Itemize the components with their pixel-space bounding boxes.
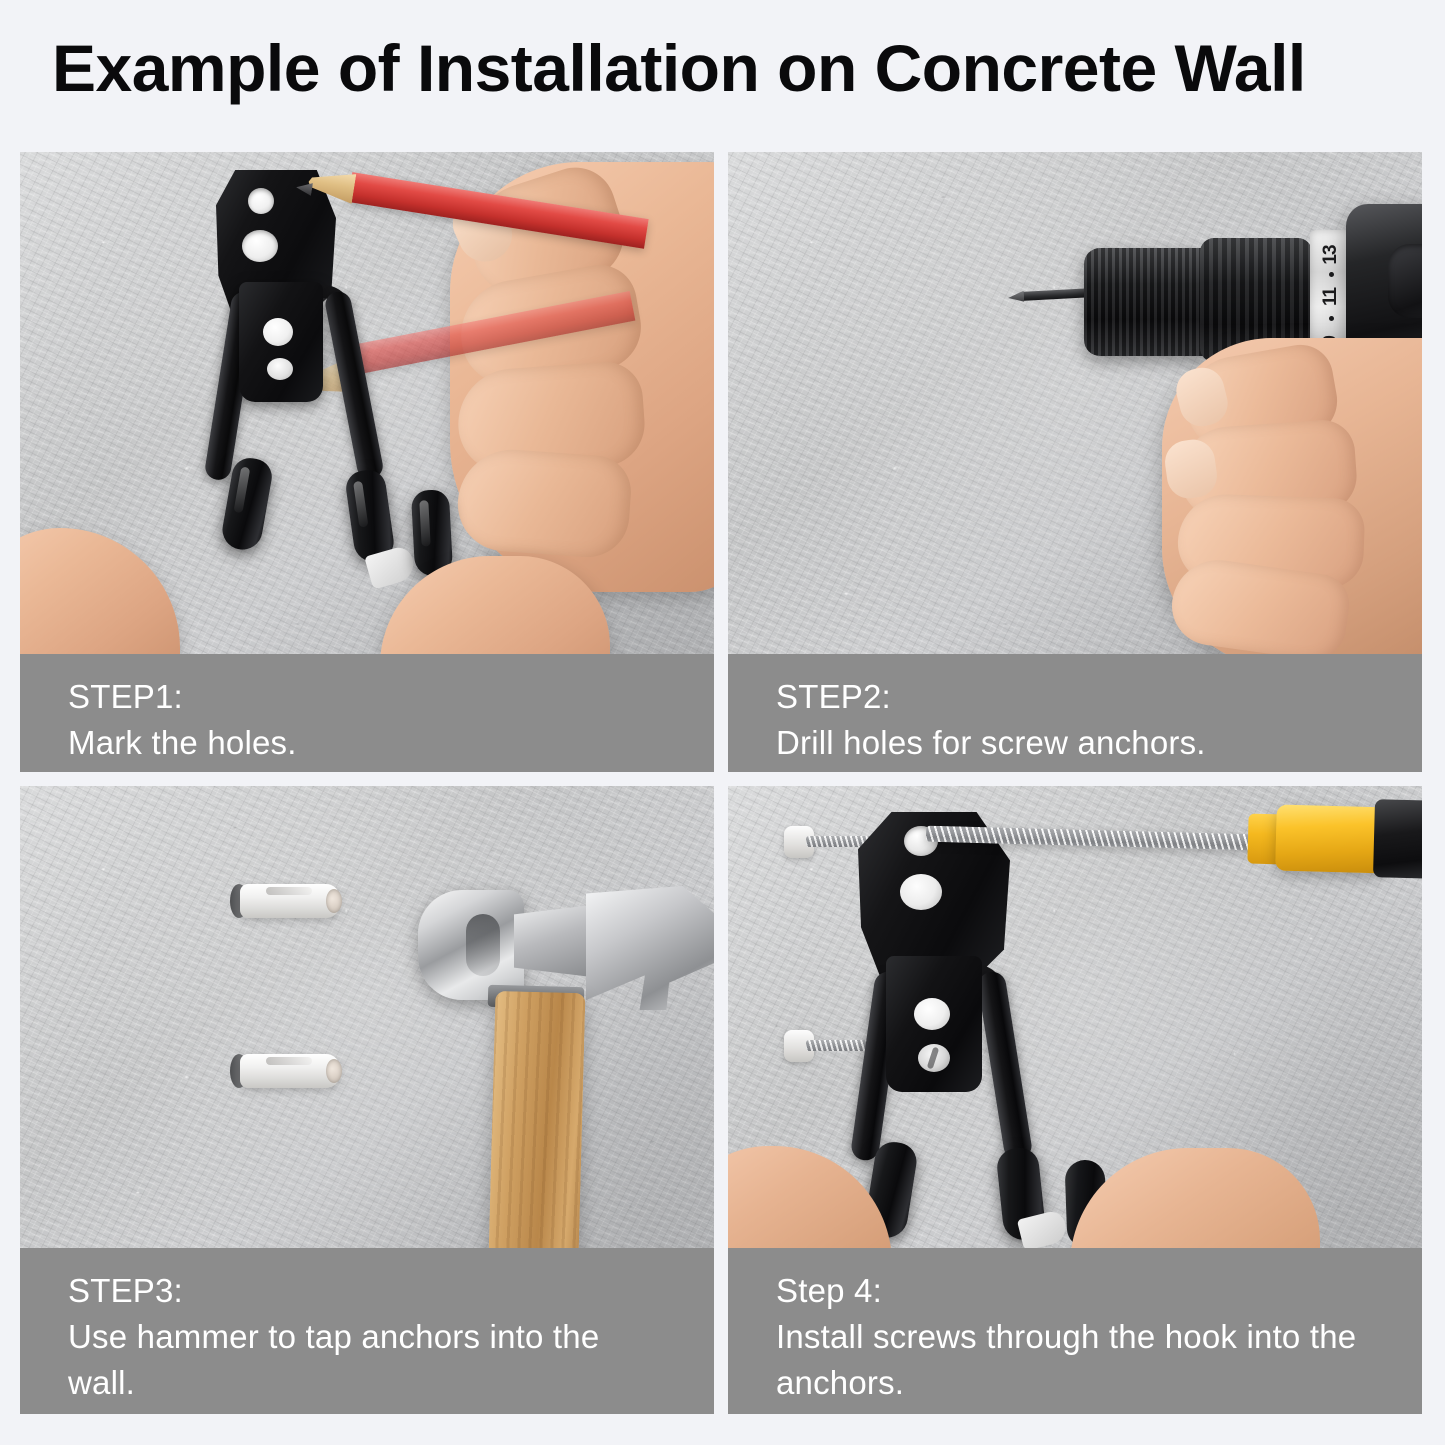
hammer-face <box>418 890 524 1000</box>
screwdriver-grip <box>1373 799 1422 879</box>
step-1-label: STEP1: <box>68 674 714 720</box>
anchor-body <box>240 1054 340 1088</box>
step-3-photo <box>20 786 714 1248</box>
mounting-hole <box>242 230 278 262</box>
page-title: Example of Installation on Concrete Wall <box>52 28 1402 108</box>
mounting-hole <box>248 188 274 214</box>
step-2-description: Drill holes for screw anchors. <box>776 720 1376 766</box>
screw-head <box>918 1044 950 1072</box>
anchor-mouth <box>326 889 342 913</box>
wall-anchor <box>236 884 340 918</box>
step-4-label: Step 4: <box>776 1268 1422 1314</box>
drill-chuck <box>1084 248 1212 356</box>
clutch-number: 13 <box>1320 245 1342 264</box>
step-card-1: STEP1: Mark the holes. <box>20 152 714 772</box>
step-4-description: Install screws through the hook into the… <box>776 1314 1376 1406</box>
drill-body-panel <box>1388 244 1422 318</box>
step-4-caption: Step 4: Install screws through the hook … <box>728 1248 1422 1414</box>
step-card-3: STEP3: Use hammer to tap anchors into th… <box>20 786 714 1414</box>
mounting-hole <box>267 358 293 380</box>
step-1-photo <box>20 152 714 654</box>
anchor-body <box>240 884 340 918</box>
step-card-2: 13 11 9 STEP2: Drill holes for scre <box>728 152 1422 772</box>
step-1-description: Mark the holes. <box>68 720 668 766</box>
mounting-hole <box>263 318 293 346</box>
step-2-photo: 13 11 9 <box>728 152 1422 654</box>
clutch-number: 11 <box>1320 288 1342 306</box>
step-1-caption: STEP1: Mark the holes. <box>20 654 714 772</box>
screwdriver-handle <box>1275 805 1389 874</box>
installation-guide-page: Example of Installation on Concrete Wall <box>0 0 1445 1445</box>
step-2-caption: STEP2: Drill holes for screw anchors. <box>728 654 1422 772</box>
clutch-dot <box>1329 316 1334 321</box>
step-3-caption: STEP3: Use hammer to tap anchors into th… <box>20 1248 714 1414</box>
clutch-dot <box>1329 272 1334 277</box>
concrete-wall-texture <box>20 786 714 1248</box>
anchor-mouth <box>326 1059 342 1083</box>
step-3-description: Use hammer to tap anchors into the wall. <box>68 1314 668 1406</box>
finger <box>455 446 634 560</box>
hammer-handle <box>485 991 586 1248</box>
step-3-label: STEP3: <box>68 1268 714 1314</box>
wall-anchor <box>236 1054 340 1088</box>
step-card-4: Step 4: Install screws through the hook … <box>728 786 1422 1414</box>
mounting-hole <box>914 998 950 1030</box>
step-4-photo <box>728 786 1422 1248</box>
mounting-hole <box>900 874 942 910</box>
hammer-claw <box>586 886 714 1010</box>
step-2-label: STEP2: <box>776 674 1422 720</box>
